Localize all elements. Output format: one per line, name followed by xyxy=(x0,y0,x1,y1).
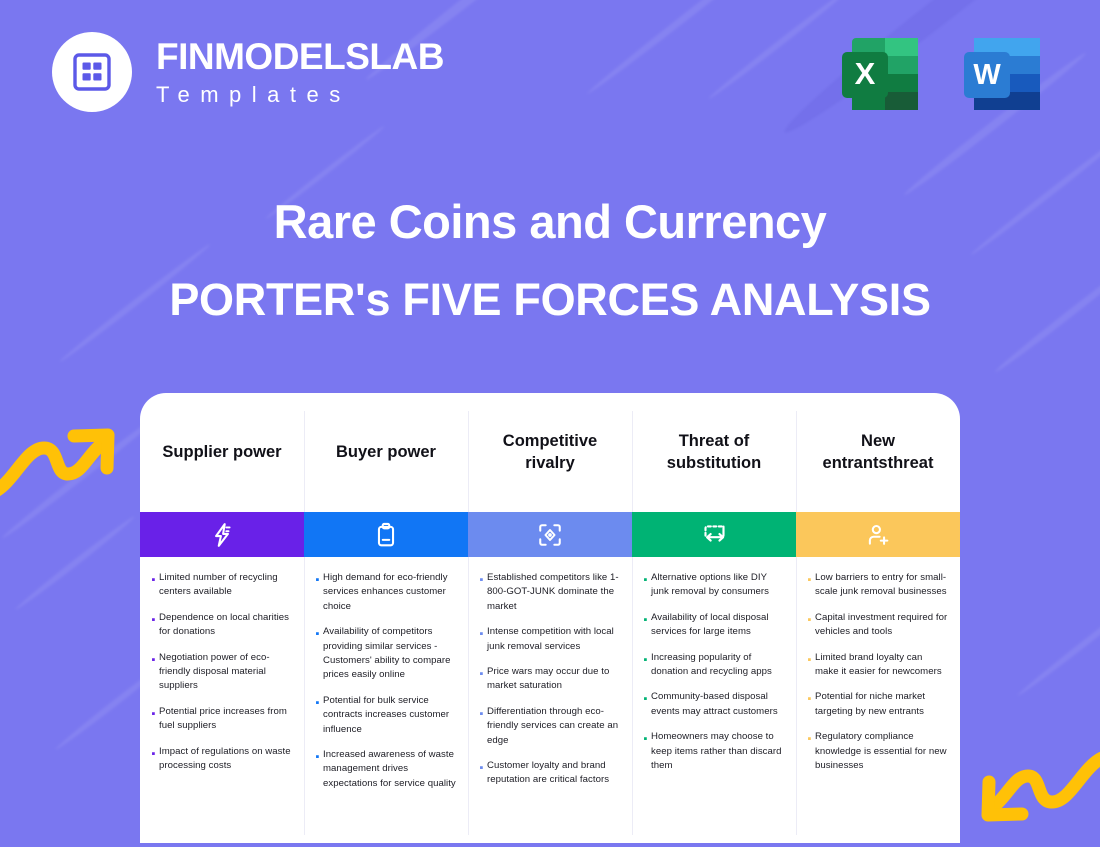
bullet-dot-icon: ▪ xyxy=(312,694,323,737)
bullet-dot-icon: ▪ xyxy=(148,611,159,640)
swap-arrows-icon xyxy=(701,521,728,548)
bullet-dot-icon: ▪ xyxy=(312,748,323,791)
list-item: ▪Alternative options like DIY junk remov… xyxy=(640,571,784,600)
bullet-dot-icon: ▪ xyxy=(476,571,487,614)
list-item: ▪Potential for niche market targeting by… xyxy=(804,690,948,719)
target-focus-icon xyxy=(537,522,563,548)
bullet-text: Established competitors like 1-800-GOT-J… xyxy=(487,571,620,614)
bullet-text: Increased awareness of waste management … xyxy=(323,748,456,791)
force-column-header-label: Threat of substitution xyxy=(640,431,788,473)
bullet-text: Customer loyalty and brand reputation ar… xyxy=(487,759,620,788)
squiggle-arrow-up-right-icon xyxy=(0,408,122,503)
bullet-text: Potential price increases from fuel supp… xyxy=(159,705,292,734)
bullet-text: Availability of competitors providing si… xyxy=(323,625,456,683)
page-subtitle: PORTER's FIVE FORCES ANALYSIS xyxy=(0,275,1100,325)
list-item: ▪Differentiation through eco-friendly se… xyxy=(476,705,620,748)
list-item: ▪Low barriers to entry for small-scale j… xyxy=(804,571,948,600)
force-bullet-list: ▪High demand for eco-friendly services e… xyxy=(304,557,468,812)
force-bullet-list: ▪Limited number of recycling centers ava… xyxy=(140,557,304,794)
lightning-bolt-icon xyxy=(209,522,235,548)
five-forces-table: Supplier power▪Limited number of recycli… xyxy=(140,393,960,843)
bullet-text: Alternative options like DIY junk remova… xyxy=(651,571,784,600)
bullet-dot-icon: ▪ xyxy=(148,571,159,600)
bullet-dot-icon: ▪ xyxy=(640,690,651,719)
format-icons: X W xyxy=(834,28,1048,120)
list-item: ▪Increased awareness of waste management… xyxy=(312,748,456,791)
bullet-dot-icon: ▪ xyxy=(804,611,815,640)
bullet-text: Low barriers to entry for small-scale ju… xyxy=(815,571,948,600)
force-column-header: Threat of substitution xyxy=(632,393,796,512)
list-item: ▪Limited number of recycling centers ava… xyxy=(148,571,292,600)
list-item: ▪Community-based disposal events may att… xyxy=(640,690,784,719)
bullet-dot-icon: ▪ xyxy=(476,759,487,788)
bullet-text: Capital investment required for vehicles… xyxy=(815,611,948,640)
force-column: Supplier power▪Limited number of recycli… xyxy=(140,393,304,843)
brand-name: FINMODELSLAB xyxy=(156,38,444,75)
bullet-text: Impact of regulations on waste processin… xyxy=(159,745,292,774)
word-icon[interactable]: W xyxy=(956,28,1048,120)
bullet-text: High demand for eco-friendly services en… xyxy=(323,571,456,614)
list-item: ▪Capital investment required for vehicle… xyxy=(804,611,948,640)
list-item: ▪Price wars may occur due to market satu… xyxy=(476,665,620,694)
page-header: FINMODELSLAB Templates X xyxy=(0,0,1100,150)
force-bullet-list: ▪Alternative options like DIY junk remov… xyxy=(632,557,796,794)
bullet-dot-icon: ▪ xyxy=(148,651,159,694)
bullet-dot-icon: ▪ xyxy=(640,730,651,773)
force-column-header: Supplier power xyxy=(140,393,304,512)
list-item: ▪Intense competition with local junk rem… xyxy=(476,625,620,654)
list-item: ▪Dependence on local charities for donat… xyxy=(148,611,292,640)
bullet-text: Limited number of recycling centers avai… xyxy=(159,571,292,600)
logo-circle xyxy=(52,32,132,112)
bullet-dot-icon: ▪ xyxy=(804,651,815,680)
brand-text: FINMODELSLAB Templates xyxy=(156,38,444,106)
bullet-text: Community-based disposal events may attr… xyxy=(651,690,784,719)
force-column: Buyer power▪High demand for eco-friendly… xyxy=(304,393,468,843)
force-column: Threat of substitution▪Alternative optio… xyxy=(632,393,796,843)
bullet-dot-icon: ▪ xyxy=(476,705,487,748)
list-item: ▪Potential for bulk service contracts in… xyxy=(312,694,456,737)
force-bullet-list: ▪Low barriers to entry for small-scale j… xyxy=(796,557,960,794)
squiggle-arrow-down-left-icon xyxy=(974,752,1100,847)
svg-text:X: X xyxy=(855,56,876,91)
force-column-header: Competitive rivalry xyxy=(468,393,632,512)
force-column: New entrantsthreat▪Low barriers to entry… xyxy=(796,393,960,843)
bullet-text: Negotiation power of eco-friendly dispos… xyxy=(159,651,292,694)
list-item: ▪Impact of regulations on waste processi… xyxy=(148,745,292,774)
list-item: ▪Established competitors like 1-800-GOT-… xyxy=(476,571,620,614)
force-column-header: New entrantsthreat xyxy=(796,393,960,512)
bullet-text: Intense competition with local junk remo… xyxy=(487,625,620,654)
bullet-text: Price wars may occur due to market satur… xyxy=(487,665,620,694)
bullet-dot-icon: ▪ xyxy=(640,571,651,600)
list-item: ▪Limited brand loyalty can make it easie… xyxy=(804,651,948,680)
grid-squares-icon xyxy=(72,52,112,92)
bullet-dot-icon: ▪ xyxy=(640,651,651,680)
list-item: ▪Potential price increases from fuel sup… xyxy=(148,705,292,734)
force-bullet-list: ▪Established competitors like 1-800-GOT-… xyxy=(468,557,632,809)
porters-five-forces-card: Supplier power▪Limited number of recycli… xyxy=(140,393,960,843)
list-item: ▪Customer loyalty and brand reputation a… xyxy=(476,759,620,788)
force-column-header-label: Supplier power xyxy=(162,442,281,463)
force-band xyxy=(140,512,304,557)
excel-icon[interactable]: X xyxy=(834,28,926,120)
bullet-text: Differentiation through eco-friendly ser… xyxy=(487,705,620,748)
bullet-dot-icon: ▪ xyxy=(312,571,323,614)
list-item: ▪Availability of local disposal services… xyxy=(640,611,784,640)
list-item: ▪Regulatory compliance knowledge is esse… xyxy=(804,730,948,773)
bullet-text: Potential for niche market targeting by … xyxy=(815,690,948,719)
brand-tagline: Templates xyxy=(156,84,444,106)
list-item: ▪Availability of competitors providing s… xyxy=(312,625,456,683)
bullet-text: Dependence on local charities for donati… xyxy=(159,611,292,640)
title-block: Rare Coins and Currency PORTER's FIVE FO… xyxy=(0,196,1100,325)
bullet-dot-icon: ▪ xyxy=(476,665,487,694)
list-item: ▪Negotiation power of eco-friendly dispo… xyxy=(148,651,292,694)
list-item: ▪High demand for eco-friendly services e… xyxy=(312,571,456,614)
bullet-text: Homeowners may choose to keep items rath… xyxy=(651,730,784,773)
brand-logo[interactable]: FINMODELSLAB Templates xyxy=(52,32,444,112)
list-item: ▪Increasing popularity of donation and r… xyxy=(640,651,784,680)
bullet-dot-icon: ▪ xyxy=(804,571,815,600)
bullet-text: Increasing popularity of donation and re… xyxy=(651,651,784,680)
force-column-header-label: Competitive rivalry xyxy=(476,431,624,473)
bullet-dot-icon: ▪ xyxy=(640,611,651,640)
bullet-text: Potential for bulk service contracts inc… xyxy=(323,694,456,737)
bullet-text: Limited brand loyalty can make it easier… xyxy=(815,651,948,680)
bullet-dot-icon: ▪ xyxy=(148,745,159,774)
force-band xyxy=(468,512,632,557)
bullet-dot-icon: ▪ xyxy=(312,625,323,683)
add-user-icon xyxy=(865,522,891,548)
svg-text:W: W xyxy=(973,59,1001,91)
force-band xyxy=(796,512,960,557)
bullet-text: Availability of local disposal services … xyxy=(651,611,784,640)
page-title: Rare Coins and Currency xyxy=(0,196,1100,249)
force-column-header: Buyer power xyxy=(304,393,468,512)
force-column: Competitive rivalry▪Established competit… xyxy=(468,393,632,843)
force-column-header-label: Buyer power xyxy=(336,442,436,463)
list-item: ▪Homeowners may choose to keep items rat… xyxy=(640,730,784,773)
bullet-text: Regulatory compliance knowledge is essen… xyxy=(815,730,948,773)
bullet-dot-icon: ▪ xyxy=(476,625,487,654)
bullet-dot-icon: ▪ xyxy=(148,705,159,734)
bullet-dot-icon: ▪ xyxy=(804,730,815,773)
force-column-header-label: New entrantsthreat xyxy=(804,431,952,473)
force-band xyxy=(304,512,468,557)
force-band xyxy=(632,512,796,557)
bullet-dot-icon: ▪ xyxy=(804,690,815,719)
clipboard-icon xyxy=(373,522,399,548)
